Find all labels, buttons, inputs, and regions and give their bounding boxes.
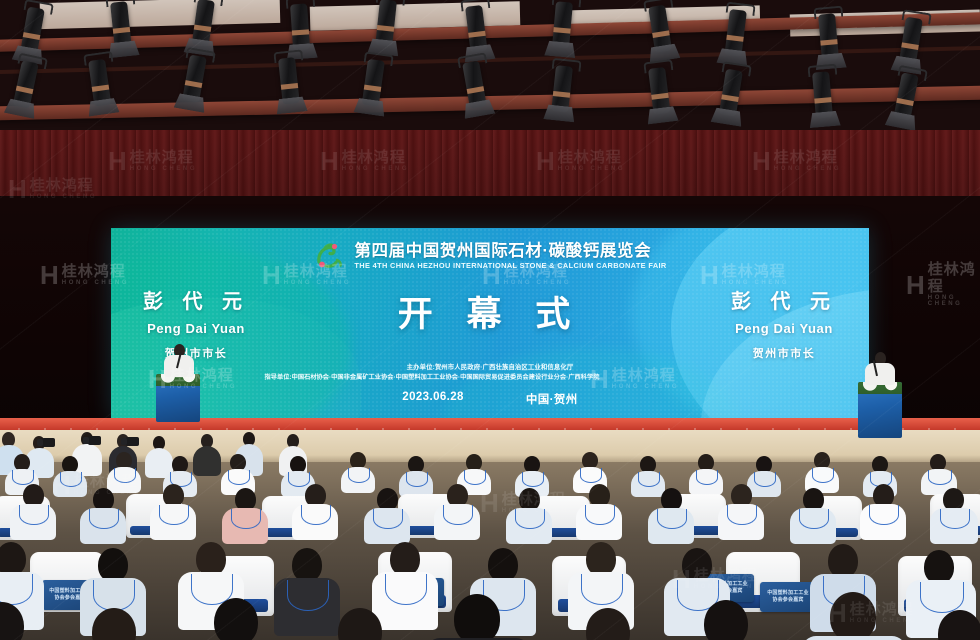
- event-location: 中国·贺州: [526, 391, 578, 407]
- ceiling-light-panel: [40, 0, 281, 29]
- led-screen: 彭 代 元 Peng Dai Yuan 贺州市市长 彭 代 元 Peng Dai…: [111, 228, 869, 418]
- fair-title-en: THE 4TH CHINA HEZHOU INTERNATIONAL STONE…: [354, 261, 666, 270]
- organizer-block: 主办单位:贺州市人民政府·广西壮族自治区工业和信息化厅 指导单位:中国石材协会·…: [230, 363, 750, 382]
- screen-header-row: 第四届中国贺州国际石材·碳酸钙展览会 THE 4TH CHINA HEZHOU …: [313, 240, 666, 272]
- chair-sign-line1: 中国塑料加工工业: [767, 590, 809, 597]
- stage-spotlight: [290, 3, 310, 50]
- chair-sign: 中国塑料加工工业 协会参会嘉宾: [760, 582, 816, 612]
- speaker-name-cn: 彭 代 元: [143, 285, 249, 314]
- speaker-name-en: Peng Dai Yuan: [735, 321, 833, 336]
- podium-left: [156, 374, 200, 422]
- hezhou-fair-emblem-icon: [313, 240, 347, 272]
- guidance-organizer-line: 指导单位:中国石材协会·中国非金属矿工业协会·中国塑料加工工业协会·中国国际贸易…: [172, 373, 692, 382]
- fair-title-cn: 第四届中国贺州国际石材·碳酸钙展览会: [354, 242, 666, 261]
- screenshot-root: 彭 代 元 Peng Dai Yuan 贺州市市长 彭 代 元 Peng Dai…: [0, 0, 980, 640]
- ceremony-title: 开 幕 式: [398, 286, 582, 337]
- screen-header-text: 第四届中国贺州国际石材·碳酸钙展览会 THE 4TH CHINA HEZHOU …: [354, 242, 666, 271]
- chair-sign-line2: 协会参会嘉宾: [767, 597, 809, 604]
- speaker-name-panel-right: 彭 代 元 Peng Dai Yuan 贺州市市长: [699, 228, 869, 418]
- event-date: 2023.06.28: [402, 391, 464, 407]
- stage-edge: [0, 418, 980, 430]
- podium-right: [858, 382, 902, 438]
- camera: [42, 438, 55, 447]
- host-organizer-line: 主办单位:贺州市人民政府·广西壮族自治区工业和信息化厅: [230, 363, 750, 373]
- speaker-name-en: Peng Dai Yuan: [147, 321, 245, 336]
- screen-meta-row: 2023.06.28 中国·贺州: [402, 391, 577, 407]
- camera: [126, 437, 139, 446]
- camera: [88, 436, 101, 445]
- audience-area: 中国塑料加工工业 协会参会嘉宾 中国塑料加工 协会活动区 中国塑料加工工业 协会…: [0, 432, 980, 640]
- screen-center-content: 第四届中国贺州国际石材·碳酸钙展览会 THE 4TH CHINA HEZHOU …: [281, 228, 699, 418]
- speaker-title-cn: 贺州市市长: [753, 345, 816, 361]
- speaker-name-cn: 彭 代 元: [731, 285, 837, 314]
- speaker-person-right: [862, 352, 896, 384]
